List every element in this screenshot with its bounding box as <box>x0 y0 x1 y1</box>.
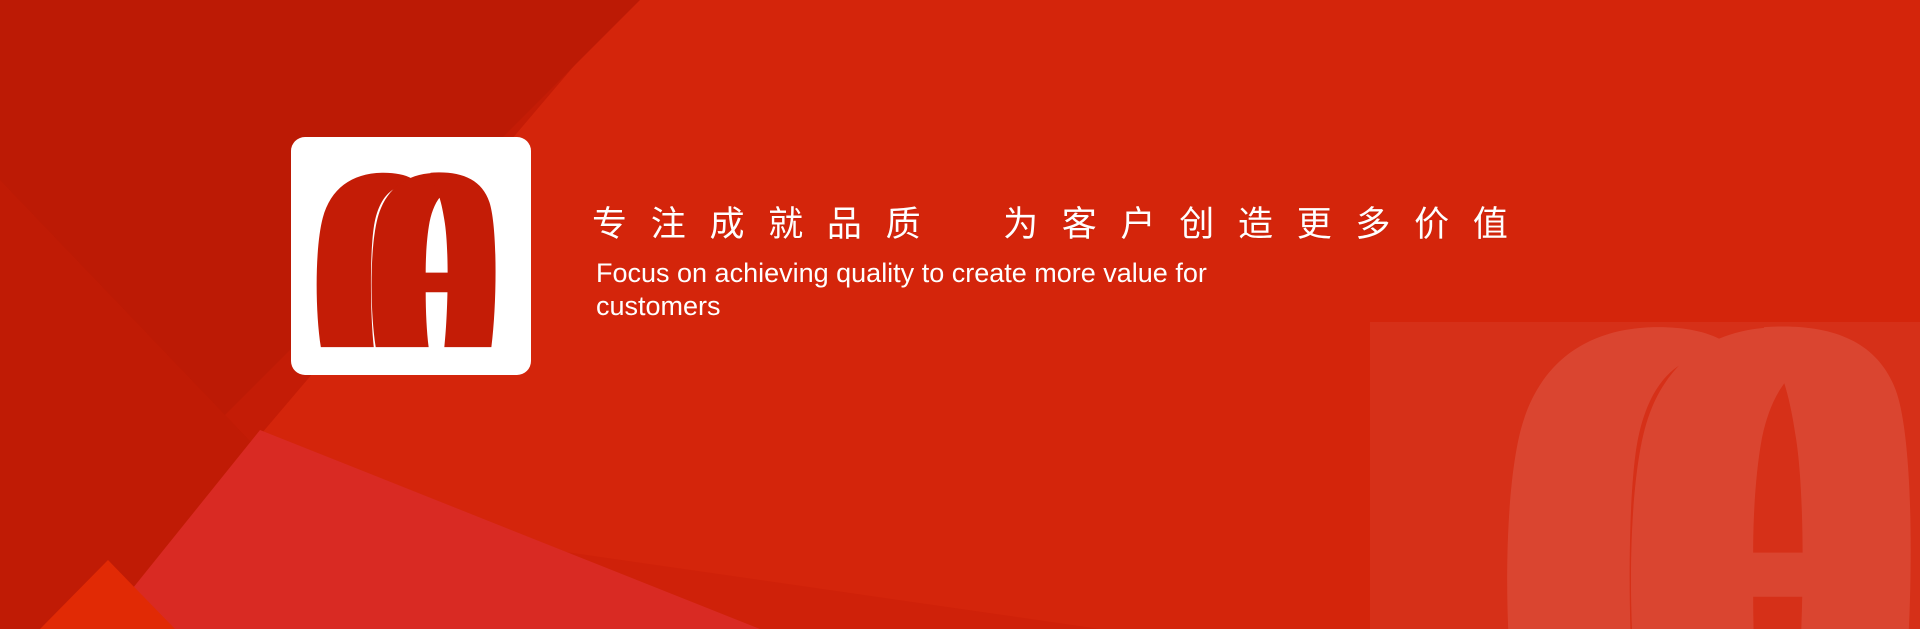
background-watermark-logo <box>1440 305 1920 629</box>
company-monogram-mark <box>313 161 509 351</box>
company-logo-tile <box>291 137 531 375</box>
hero-banner: 专 注 成 就 品 质 为 客 户 创 造 更 多 价 值 Focus on a… <box>0 0 1920 629</box>
slogan-subline-english: Focus on achieving quality to create mor… <box>596 257 1226 323</box>
background-watermark-panel <box>1370 322 1920 629</box>
slogan-block: 专 注 成 就 品 质 为 客 户 创 造 更 多 价 值 Focus on a… <box>592 202 1492 323</box>
slogan-subline-line1: Focus on achieving quality to create mor… <box>596 258 1168 288</box>
slogan-headline-chinese: 专 注 成 就 品 质 为 客 户 创 造 更 多 价 值 <box>592 202 1492 248</box>
